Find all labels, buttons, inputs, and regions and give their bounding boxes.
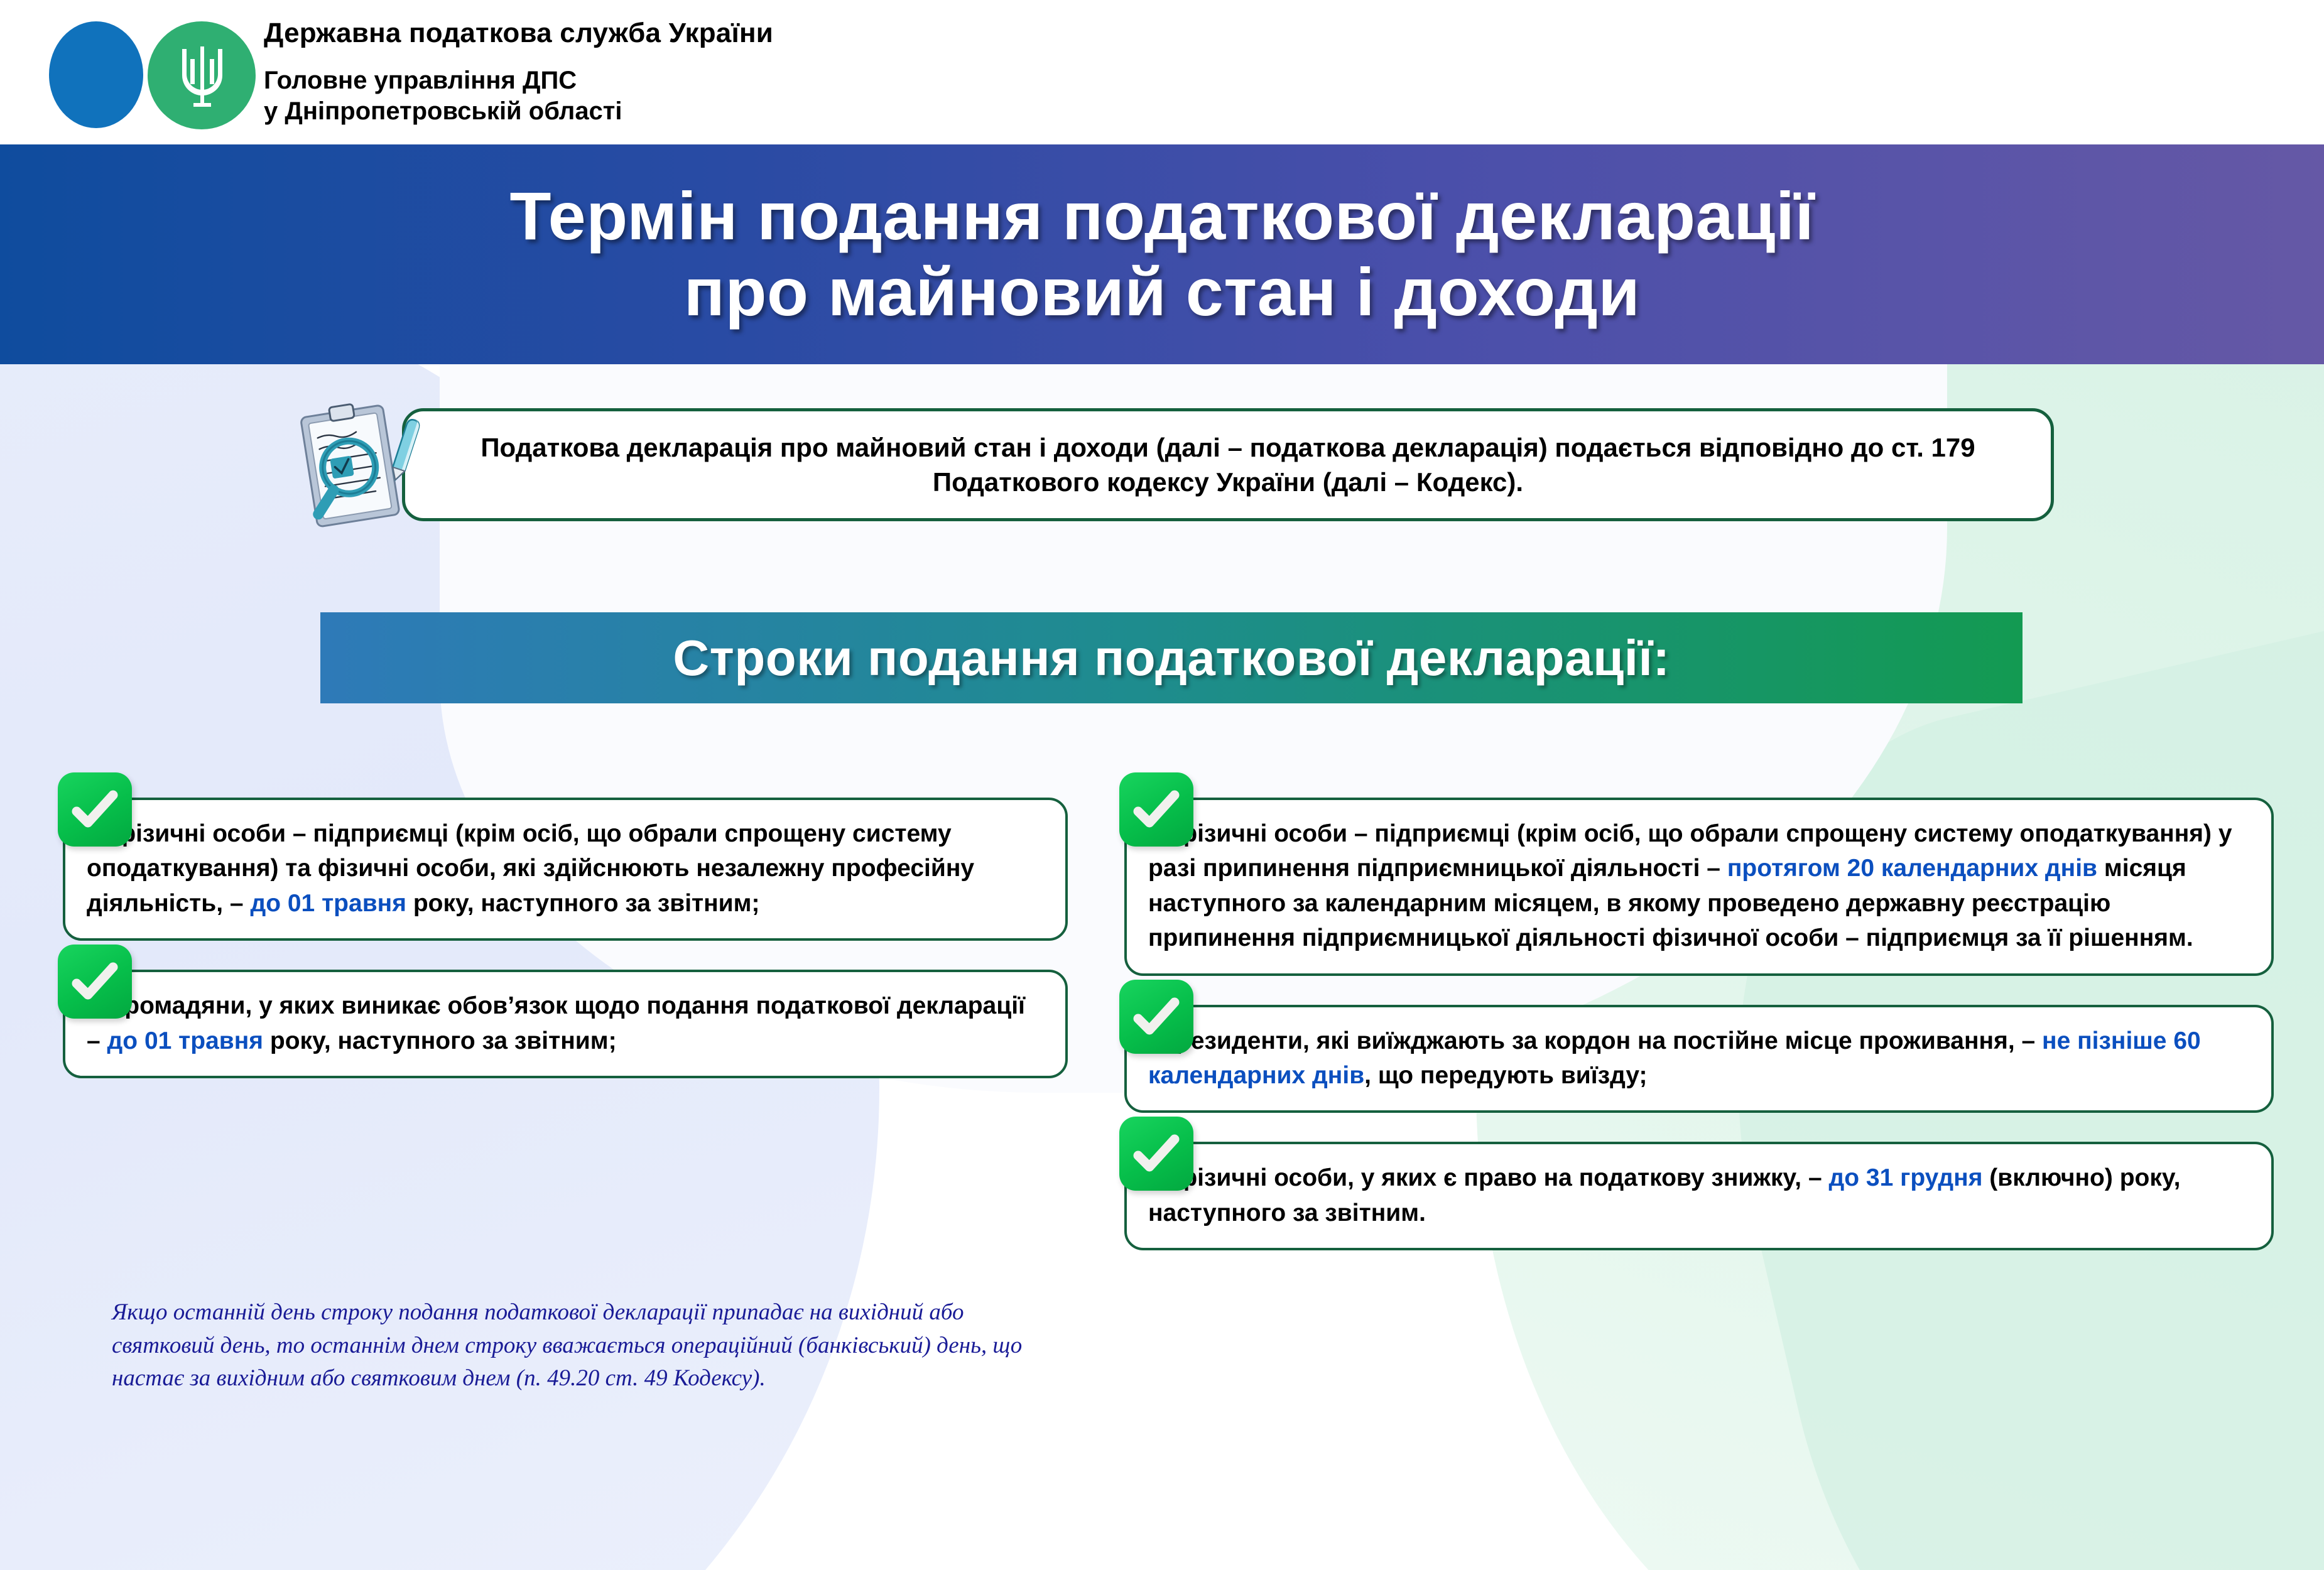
office-line-2: у Дніпропетровській області xyxy=(264,96,773,127)
footnote-box: Якщо останній день строку подання податк… xyxy=(100,1287,1068,1404)
deadline-card-text: фізичні особи, у яких є право на податко… xyxy=(1148,1161,2250,1230)
footnote-text: Якщо останній день строку подання податк… xyxy=(112,1296,1056,1395)
card-text-segment: року, наступного за звітним; xyxy=(406,890,760,917)
agency-name: Державна податкова служба України xyxy=(264,18,773,49)
left-column: фізичні особи – підприємці (крім осіб, щ… xyxy=(63,798,1068,1107)
card-text-segment: резиденти, які виїжджають за кордон на п… xyxy=(1176,1027,2042,1054)
section-heading-band: Строки подання податкової декларації: xyxy=(320,612,2023,703)
page-title-line-1: Термін подання податкової декларації xyxy=(510,178,1815,254)
deadline-card: резиденти, які виїжджають за кордон на п… xyxy=(1124,1005,2274,1113)
deadline-card-text: фізичні особи – підприємці (крім осіб, щ… xyxy=(1148,816,2250,956)
page-title-line-2: про майновий стан і доходи xyxy=(684,254,1640,330)
deadline-card-box: фізичні особи – підприємці (крім осіб, щ… xyxy=(1124,798,2274,976)
intro-text: Податкова декларація про майновий стан і… xyxy=(426,430,2029,500)
green-check-icon xyxy=(1119,1117,1193,1191)
deadline-card: фізичні особи – підприємці (крім осіб, щ… xyxy=(63,798,1068,941)
masthead: Державна податкова служба України Головн… xyxy=(0,0,2324,144)
deadline-card-text: фізичні особи – підприємці (крім осіб, щ… xyxy=(87,816,1044,921)
green-check-icon xyxy=(1119,980,1193,1054)
title-banner: Термін подання податкової декларації про… xyxy=(0,144,2324,364)
deadline-card-box: фізичні особи, у яких є право на податко… xyxy=(1124,1142,2274,1250)
highlight-deadline: до 01 травня xyxy=(107,1027,264,1054)
deadline-card-text: резиденти, які виїжджають за кордон на п… xyxy=(1148,1024,2250,1093)
green-check-icon xyxy=(58,945,132,1019)
section-heading: Строки подання податкової декларації: xyxy=(673,629,1670,687)
highlight-deadline: до 01 травня xyxy=(250,890,406,917)
intro-box: Податкова декларація про майновий стан і… xyxy=(402,408,2054,521)
card-text-segment: року, наступного за звітним; xyxy=(263,1027,617,1054)
right-column: фізичні особи – підприємці (крім осіб, щ… xyxy=(1124,798,2274,1279)
deadline-card: громадяни, у яких виникає обов’язок щодо… xyxy=(63,970,1068,1078)
deadline-card-box: резиденти, які виїжджають за кордон на п… xyxy=(1124,1005,2274,1113)
deadline-card-box: фізичні особи – підприємці (крім осіб, щ… xyxy=(63,798,1068,941)
green-check-icon xyxy=(58,772,132,847)
agency-logo xyxy=(38,13,258,132)
card-text-segment: фізичні особи, у яких є право на податко… xyxy=(1176,1164,1829,1191)
clipboard-magnifier-pen-icon xyxy=(295,396,427,537)
card-text-segment: , що передують виїзду; xyxy=(1364,1062,1647,1089)
deadline-card: фізичні особи – підприємці (крім осіб, щ… xyxy=(1124,798,2274,976)
deadline-card-text: громадяни, у яких виникає обов’язок щодо… xyxy=(87,988,1044,1058)
highlight-deadline: протягом 20 календарних днів xyxy=(1727,855,2097,882)
logo-blue-ellipse-icon xyxy=(49,21,143,128)
highlight-deadline: до 31 грудня xyxy=(1829,1164,1983,1191)
deadline-card-box: громадяни, у яких виникає обов’язок щодо… xyxy=(63,970,1068,1078)
office-line-1: Головне управління ДПС xyxy=(264,65,773,96)
intro-callout: Податкова декларація про майновий стан і… xyxy=(295,408,2054,528)
green-check-icon xyxy=(1119,772,1193,847)
page-title: Термін подання податкової декларації про… xyxy=(510,178,1815,330)
trident-icon xyxy=(177,43,227,109)
deadline-card: фізичні особи, у яких є право на податко… xyxy=(1124,1142,2274,1250)
